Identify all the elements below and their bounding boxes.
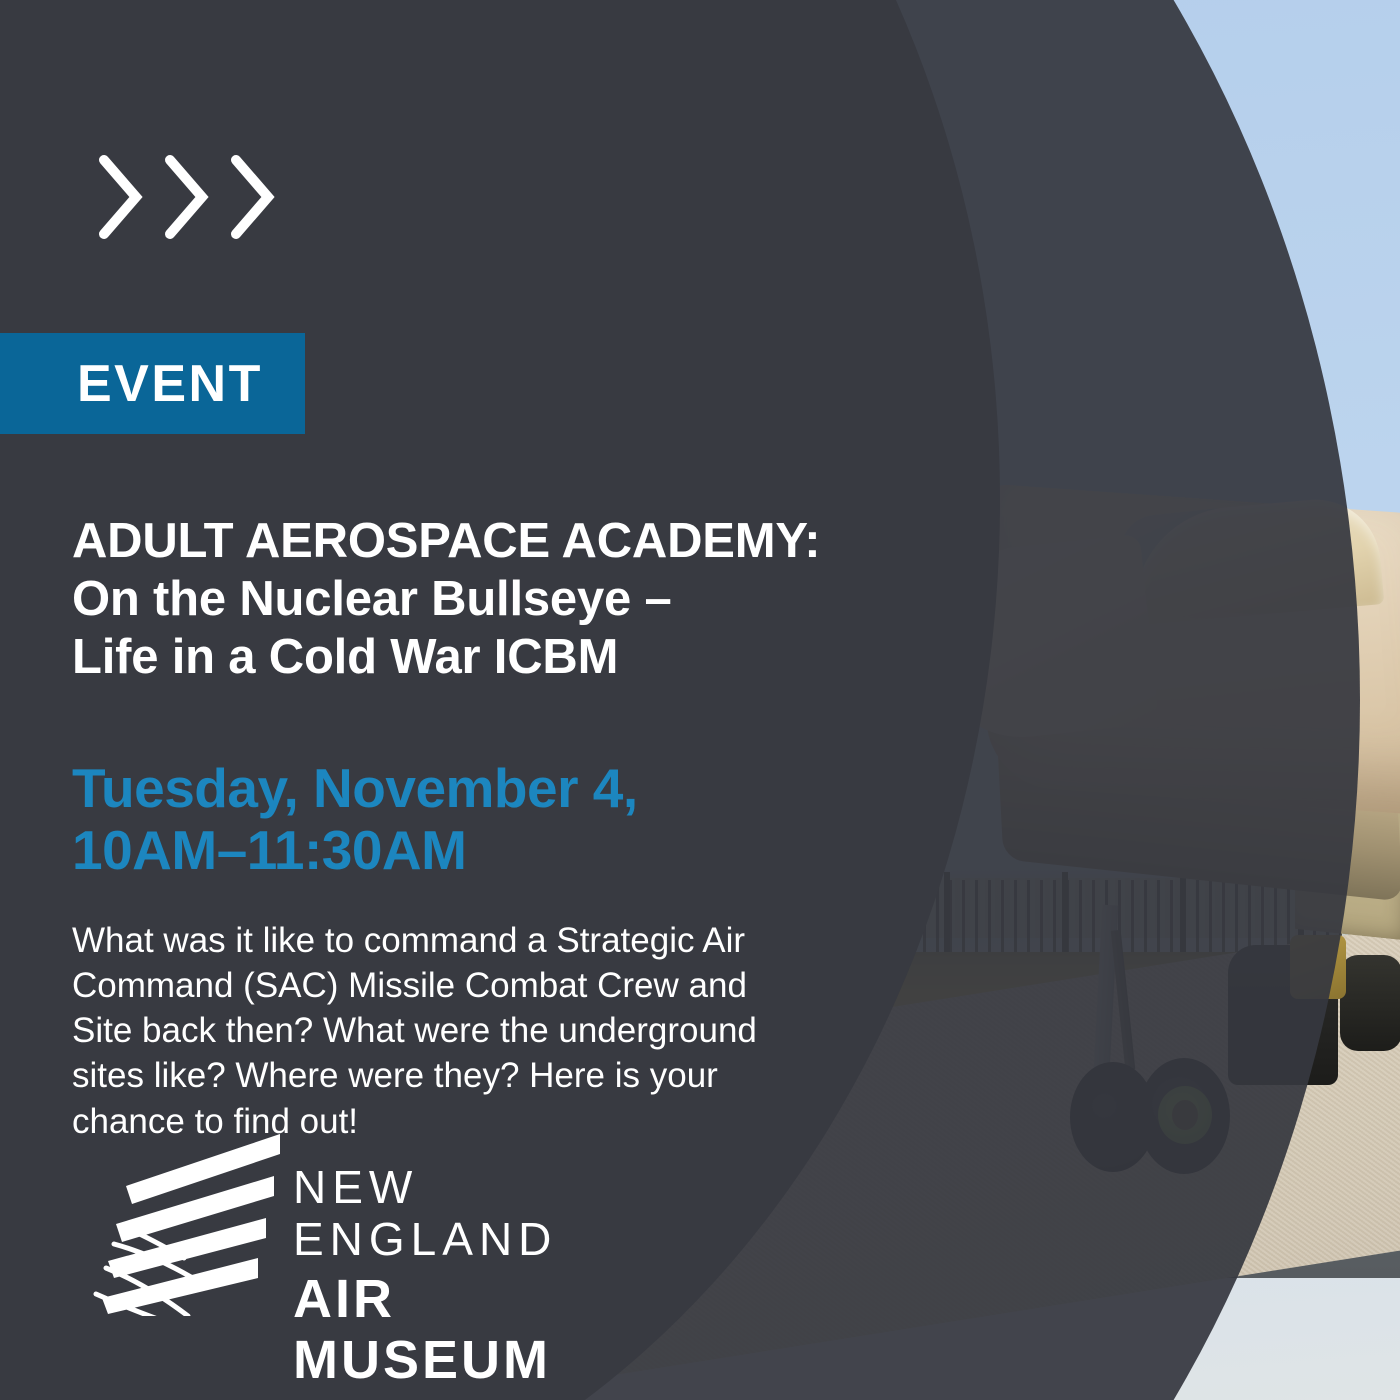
title-line-2: On the Nuclear Bullseye –: [72, 571, 1052, 629]
status-badge: EVENT: [0, 333, 305, 434]
title-line-3: Life in a Cold War ICBM: [72, 629, 1052, 687]
event-promo-card: EVENT ADULT AEROSPACE ACADEMY: On the Nu…: [0, 0, 1400, 1400]
description-line-3: Site back then? What were the undergroun…: [72, 1008, 812, 1053]
datetime-line-1: Tuesday, November 4,: [72, 758, 972, 820]
chevron-right-icon: [228, 152, 278, 242]
logo-line-2: AIR MUSEUM: [293, 1269, 648, 1390]
description-line-4: sites like? Where were they? Here is you…: [72, 1053, 812, 1098]
event-description: What was it like to command a Strategic …: [72, 918, 812, 1144]
chevron-right-icon: [96, 152, 146, 242]
badge-label: EVENT: [0, 358, 263, 410]
chevron-decoration: [96, 152, 278, 242]
description-line-2: Command (SAC) Missile Combat Crew and: [72, 963, 812, 1008]
description-line-1: What was it like to command a Strategic …: [72, 918, 812, 963]
logo-line-1: NEW ENGLAND: [293, 1162, 648, 1265]
content-layer: EVENT ADULT AEROSPACE ACADEMY: On the Nu…: [0, 0, 1400, 1400]
event-datetime: Tuesday, November 4, 10AM–11:30AM: [72, 758, 972, 881]
museum-logo: NEW ENGLAND AIR MUSEUM: [88, 1126, 648, 1316]
wing-feather-logo-icon: [88, 1126, 288, 1316]
datetime-line-2: 10AM–11:30AM: [72, 820, 972, 882]
page-title: ADULT AEROSPACE ACADEMY: On the Nuclear …: [72, 513, 1052, 686]
chevron-right-icon: [162, 152, 212, 242]
logo-wordmark: NEW ENGLAND AIR MUSEUM: [293, 1162, 648, 1390]
title-line-1: ADULT AEROSPACE ACADEMY:: [72, 513, 1052, 571]
